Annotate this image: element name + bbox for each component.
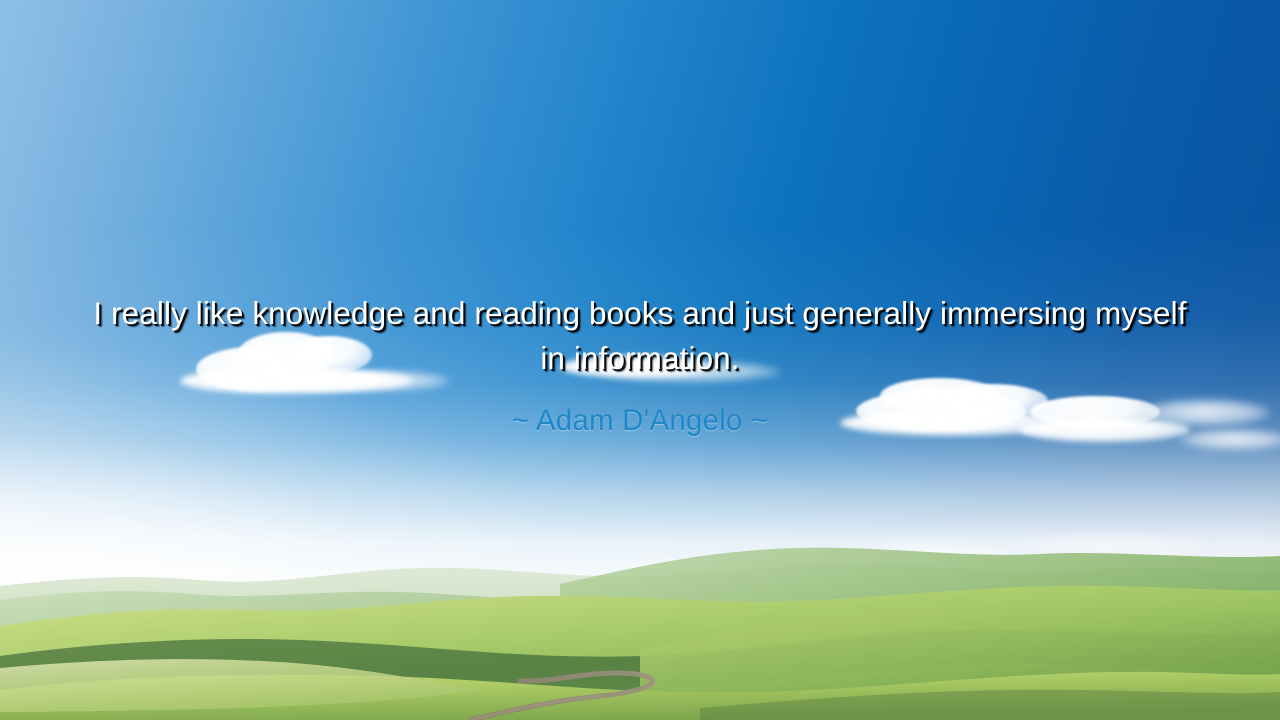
- rolling-hills: [0, 540, 1280, 720]
- quote-author: ~ Adam D'Angelo ~: [0, 401, 1280, 441]
- quote-card: I really like knowledge and reading book…: [0, 0, 1280, 720]
- quote-text: I really like knowledge and reading book…: [85, 291, 1195, 381]
- hills-svg: [0, 540, 1280, 720]
- quote-block: I really like knowledge and reading book…: [0, 291, 1280, 441]
